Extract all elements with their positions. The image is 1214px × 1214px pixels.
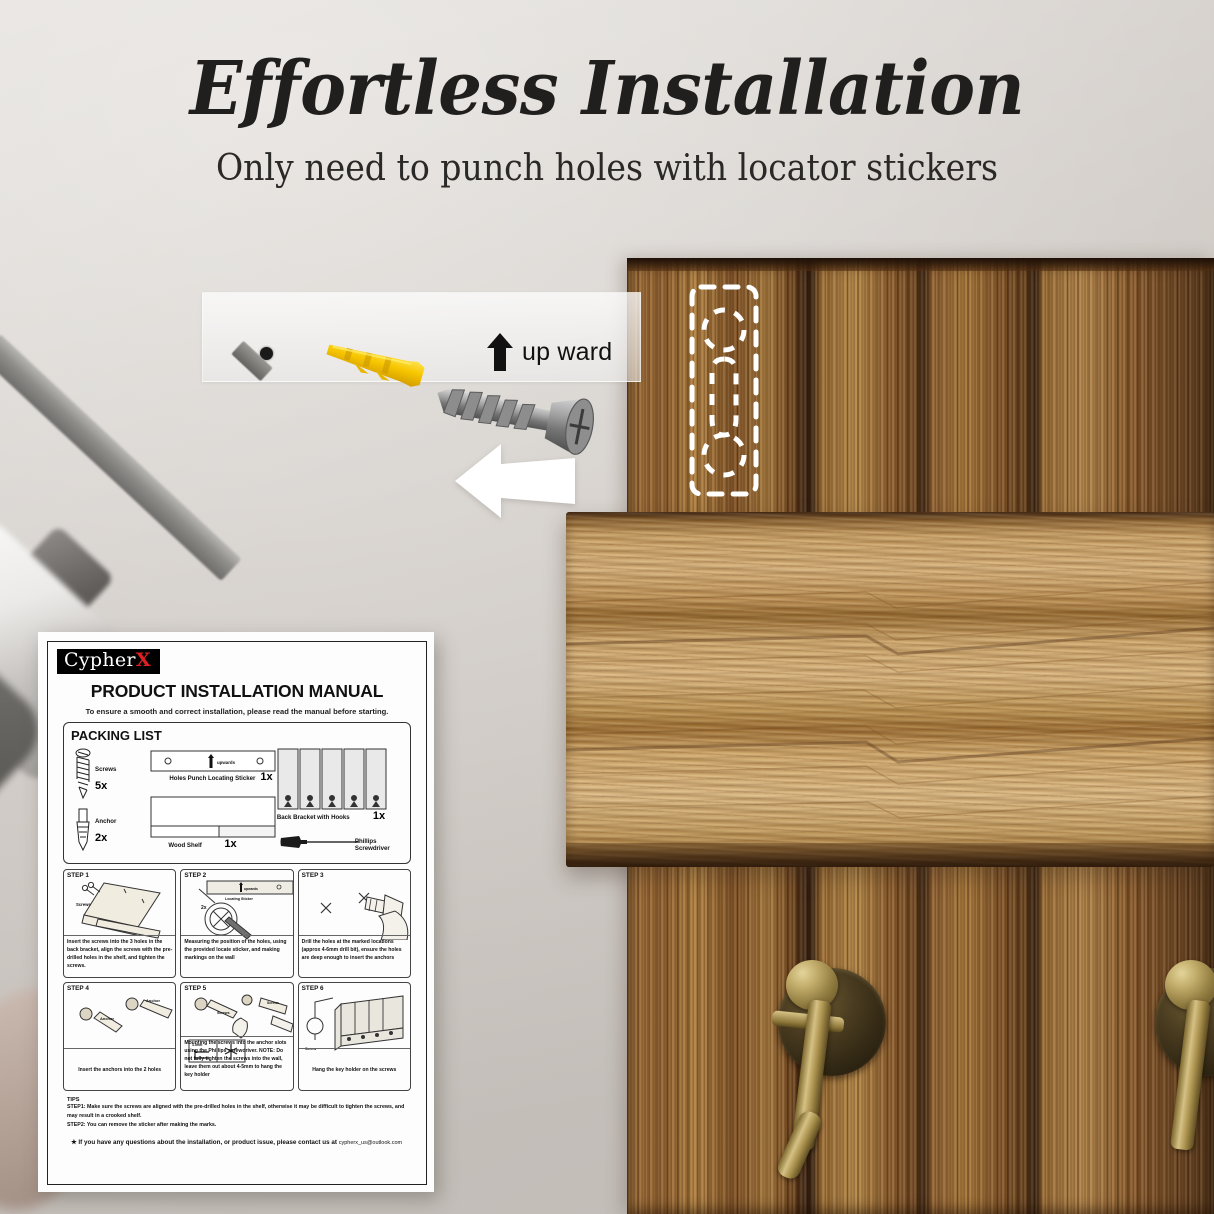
step-illustration: Screw — [299, 992, 410, 1053]
tips-line: STEP2: You can remove the sticker after … — [67, 1121, 409, 1130]
installation-manual-sheet: CypherX PRODUCT INSTALLATION MANUAL To e… — [38, 632, 434, 1192]
step-card: STEP 4 Anchor — [63, 982, 176, 1091]
step-card: STEP 6 — [298, 982, 411, 1091]
hook-right — [1155, 960, 1214, 1160]
step-number: STEP 4 — [64, 983, 175, 992]
tips-line: STEP1: Make sure the screws are aligned … — [67, 1103, 409, 1121]
step-art-label: Locating Sticker — [225, 897, 254, 901]
wood-shelf-illustration-icon — [150, 796, 276, 838]
brand-logo-prefix: Cypher — [64, 649, 136, 671]
upward-label: up ward — [522, 338, 612, 367]
headline-block: Effortless Installation Only need to pun… — [0, 52, 1214, 189]
step-number: STEP 1 — [64, 870, 175, 879]
step-card: STEP 1 — [63, 869, 176, 978]
wood-shelf — [566, 512, 1214, 867]
packing-item-label: Anchor — [95, 818, 116, 825]
brand-logo: CypherX — [57, 649, 160, 674]
packing-item-label: Back Bracket with Hooks — [277, 814, 350, 821]
packing-list-box: PACKING LIST — [63, 722, 411, 864]
step-caption: Hang the key holder on the screws — [299, 1048, 410, 1090]
step-illustration: upwards Locating Sticker 2x — [181, 879, 292, 940]
packing-item-qty: 2x — [95, 832, 107, 844]
hook-left — [760, 960, 930, 1190]
sticker-illustration-icon: upwards — [150, 750, 276, 772]
svg-text:Anchor: Anchor — [146, 998, 160, 1003]
packing-col-sticker-shelf: upwards Holes Punch Locating Sticker 1x — [150, 746, 270, 858]
step-number: STEP 2 — [181, 870, 292, 879]
packing-item-label: Holes Punch Locating Sticker — [150, 775, 255, 782]
arrow-up-icon — [487, 333, 513, 371]
packing-item-label: Wood Shelf — [168, 842, 201, 849]
step-art-mark: 2x — [201, 905, 207, 911]
page-subtitle: Only need to punch holes with locator st… — [49, 148, 1166, 189]
step-number: STEP 5 — [181, 983, 292, 992]
svg-text:upwards: upwards — [244, 887, 258, 891]
screw-illustration-icon — [75, 748, 91, 800]
packing-item-label: Screws — [95, 766, 116, 773]
step-art-label: Anchor — [100, 1016, 114, 1021]
packing-item-qty: 1x — [373, 810, 385, 822]
step-art-label: Screws — [217, 1011, 230, 1015]
hook-arm-curve-icon — [775, 1108, 824, 1181]
step-number: STEP 6 — [299, 983, 410, 992]
manual-title: PRODUCT INSTALLATION MANUAL — [57, 681, 417, 702]
step-illustration — [299, 879, 410, 940]
packing-item-qty: 5x — [95, 780, 107, 792]
step-illustration: Anchor Anchor — [64, 992, 175, 1053]
packing-item-qty: 1x — [224, 838, 236, 850]
contact-email: cypherx_us@outlook.com — [339, 1140, 402, 1146]
contact-text: ★ If you have any questions about the in… — [71, 1139, 339, 1146]
packing-col-bracket: Back Bracket with Hooks 1x Phillips Scre… — [277, 746, 403, 858]
manual-subtitle: To ensure a smooth and correct installat… — [57, 707, 417, 716]
step-caption: Drill the holes at the marked locations … — [299, 935, 410, 977]
steps-grid: STEP 1 — [63, 869, 411, 1091]
arrow-left-icon — [455, 440, 575, 522]
backboard-top-edge — [627, 258, 1214, 271]
product-marketing-image: Effortless Installation Only need to pun… — [0, 0, 1214, 1214]
step-card: STEP 5 Screws Screws — [180, 982, 293, 1091]
page-title: Effortless Installation — [42, 52, 1171, 126]
back-bracket-illustration-icon — [277, 748, 389, 810]
sticker-upwards-mark: upwards — [217, 760, 236, 765]
step-art-label: Screws — [76, 902, 91, 907]
packing-item-qty: 1x — [260, 771, 272, 783]
packing-item-label: Phillips Screwdriver — [355, 838, 403, 852]
step-number: STEP 3 — [299, 870, 410, 879]
shelf-bottom-edge — [566, 843, 1214, 867]
keyhole-slot-marker-icon — [688, 283, 760, 498]
phillips-screwdriver-illustration-icon — [279, 834, 367, 850]
step-caption: Mounting the screws into the anchor slot… — [181, 1036, 292, 1090]
svg-text:Screws: Screws — [267, 1001, 279, 1005]
anchor-illustration-icon — [75, 808, 91, 852]
step-caption: Insert the anchors into the 2 holes — [64, 1048, 175, 1090]
brand-logo-accent: X — [136, 649, 151, 671]
packing-col-fasteners: Screws 5x — [71, 746, 144, 858]
upward-indicator: up ward — [487, 333, 612, 371]
packing-list-heading: PACKING LIST — [71, 728, 403, 743]
step-card: STEP 3 — [298, 869, 411, 978]
step-caption: Measuring the position of the holes, usi… — [181, 935, 292, 977]
tips-block: TIPS STEP1: Make sure the screws are ali… — [67, 1097, 409, 1130]
step-caption: Insert the screws into the 3 holes in th… — [64, 935, 175, 977]
contact-line: ★ If you have any questions about the in… — [71, 1139, 409, 1146]
step-card: STEP 2 upwards Locating Sticker — [180, 869, 293, 978]
step-illustration: Screws — [64, 879, 175, 940]
